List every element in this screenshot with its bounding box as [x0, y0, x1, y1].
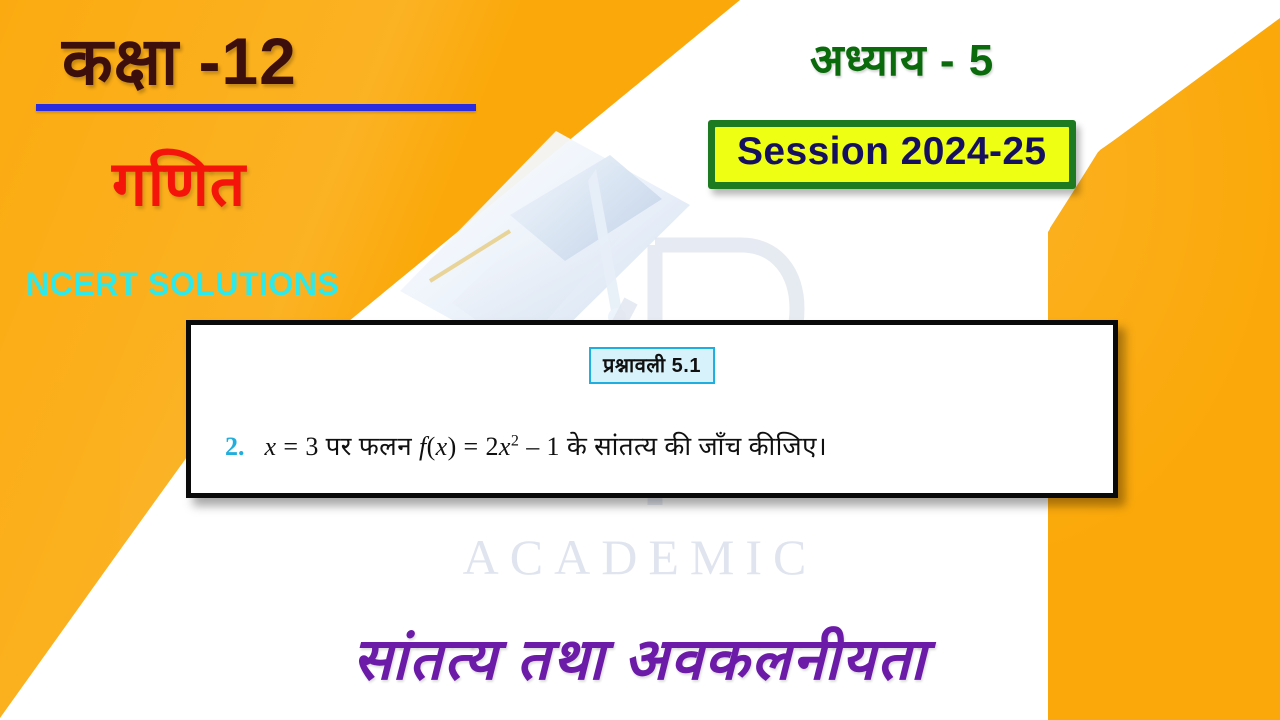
question-seg-equals: = 3 पर फलन: [276, 432, 418, 461]
question-seg-open: (: [427, 432, 436, 461]
question-func-arg: x: [436, 432, 448, 461]
ncert-solutions-label: NCERT SOLUTIONS: [26, 266, 339, 303]
question-term-x: x: [499, 432, 511, 461]
subject-title: गणित: [112, 140, 246, 224]
thumbnail-canvas: ACADEMIC कक्षा -12 गणित NCERT SOLUTIONS …: [0, 0, 1280, 720]
session-badge-inner: Session 2024-25: [715, 127, 1069, 182]
question-func-f: f: [419, 432, 427, 461]
title-divider: [36, 104, 476, 111]
question-seg-tail: – 1 के सांतत्य की जाँच कीजिए।: [519, 432, 827, 461]
exercise-chip-label: प्रश्नावली 5.1: [603, 355, 701, 377]
session-badge: Session 2024-25: [708, 120, 1076, 189]
chapter-title: अध्याय - 5: [810, 28, 994, 88]
chapter-name: सांतत्य तथा अवकलनीयता: [0, 617, 1280, 696]
question-var-x: x: [265, 432, 277, 461]
question-number: 2.: [225, 432, 245, 462]
exercise-chip: प्रश्नावली 5.1: [589, 347, 715, 384]
question-card-inner: प्रश्नावली 5.1 2. x = 3 पर फलन f(x) = 2x…: [191, 325, 1113, 493]
question-card: प्रश्नावली 5.1 2. x = 3 पर फलन f(x) = 2x…: [186, 320, 1118, 498]
question-text: x = 3 पर फलन f(x) = 2x2 – 1 के सांतत्य क…: [265, 427, 828, 463]
class-title: कक्षा -12: [62, 14, 297, 104]
session-badge-label: Session 2024-25: [737, 132, 1047, 173]
question-seg-close: ) = 2: [448, 432, 499, 461]
question-row: 2. x = 3 पर फलन f(x) = 2x2 – 1 के सांतत्…: [225, 427, 1093, 463]
